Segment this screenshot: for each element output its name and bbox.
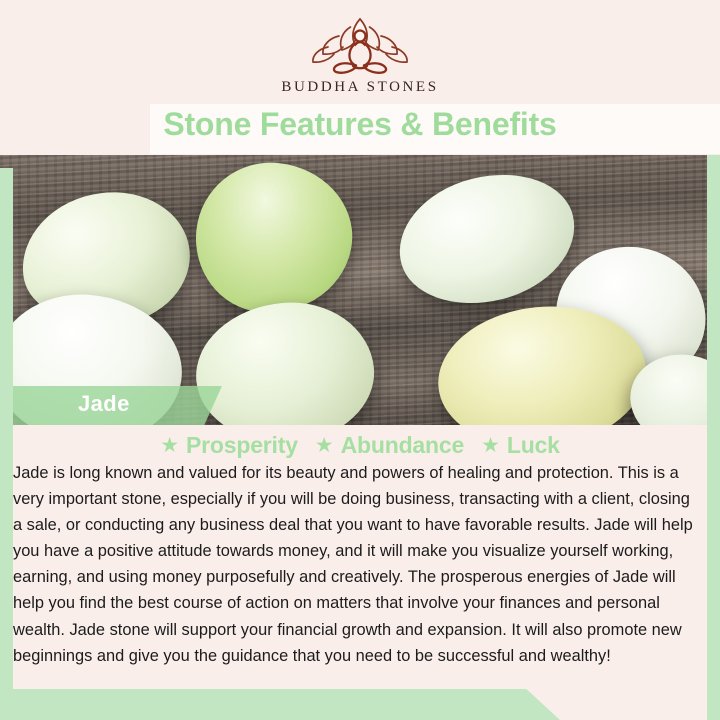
bottom-accent-band (0, 689, 560, 720)
benefit-item: ★ Prosperity (160, 432, 298, 459)
page-title: Stone Features & Benefits (0, 106, 720, 143)
brand-name: BUDDHA STONES (281, 79, 438, 96)
benefits-row: ★ Prosperity ★ Abundance ★ Luck (0, 432, 720, 459)
stone-description: Jade is long known and valued for its be… (13, 460, 707, 669)
benefit-label: Luck (507, 432, 560, 459)
jade-stones-photo (0, 155, 720, 425)
star-icon: ★ (481, 435, 500, 456)
benefit-label: Abundance (341, 432, 464, 459)
benefit-label: Prosperity (186, 432, 298, 459)
infographic-page: BUDDHA STONES Stone Features & Benefits … (0, 0, 720, 720)
stone-name-label: Jade (78, 391, 130, 417)
benefit-item: ★ Abundance (315, 432, 464, 459)
benefit-item: ★ Luck (481, 432, 560, 459)
lotus-meditation-figure-icon (300, 12, 420, 78)
brand-header: BUDDHA STONES (0, 0, 720, 108)
star-icon: ★ (315, 435, 334, 456)
star-icon: ★ (160, 435, 179, 456)
